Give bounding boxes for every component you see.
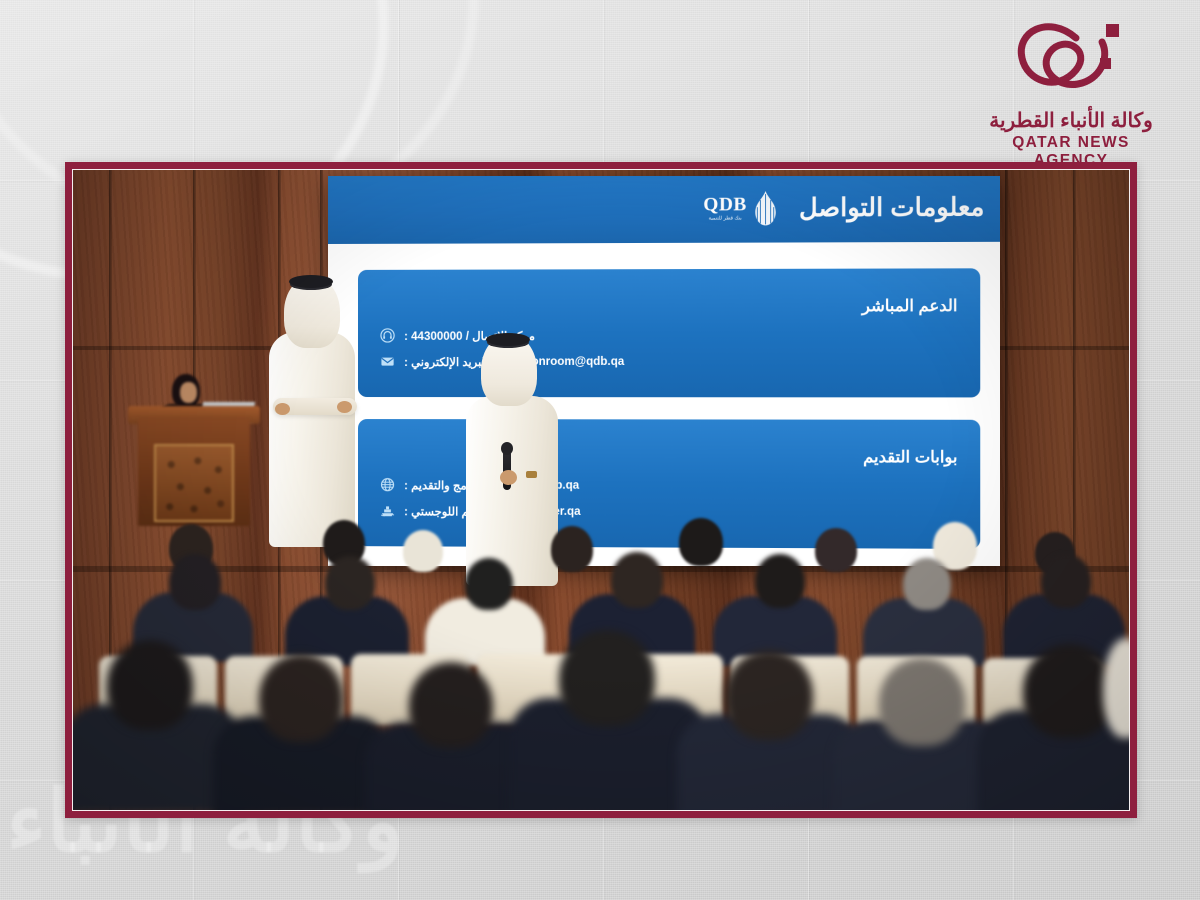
audience-head xyxy=(409,662,493,748)
qdb-wordmark: QDB بنك قطر للتنمية xyxy=(703,195,747,221)
audience-head xyxy=(879,658,965,746)
audience-head xyxy=(107,640,193,730)
envelope-icon xyxy=(380,354,395,369)
audience-head xyxy=(755,554,805,608)
hand xyxy=(275,403,290,415)
audience-head xyxy=(403,530,443,572)
qdb-flame-icon xyxy=(752,191,779,225)
hand xyxy=(500,470,517,485)
qna-name-arabic: وكالة الأنباء القطرية xyxy=(982,110,1160,132)
qna-logo: وكالة الأنباء القطرية QATAR NEWS AGENCY xyxy=(982,18,1160,170)
qdb-wordmark-ar: بنك قطر للتنمية xyxy=(709,216,742,221)
audience-head xyxy=(465,558,513,610)
headset-icon xyxy=(380,328,395,343)
audience-head xyxy=(559,630,655,726)
podium-speaker-face xyxy=(180,382,197,403)
audience-head xyxy=(1041,554,1091,608)
news-photo-frame: QDB بنك قطر للتنمية معلومات التواصل الدع… xyxy=(65,162,1137,818)
audience-head xyxy=(903,558,951,610)
news-photo: QDB بنك قطر للتنمية معلومات التواصل الدع… xyxy=(72,169,1130,811)
audience-head xyxy=(725,650,813,740)
audience-head xyxy=(679,518,723,566)
panel-heading: الدعم المباشر xyxy=(380,296,958,317)
slide-header: QDB بنك قطر للتنمية معلومات التواصل xyxy=(328,176,1000,244)
audience-head xyxy=(1023,644,1115,738)
audience-head xyxy=(611,552,663,608)
audience-head xyxy=(169,554,221,610)
qdb-logo: QDB بنك قطر للتنمية xyxy=(703,191,778,226)
qdb-wordmark-en: QDB xyxy=(703,195,747,214)
hand xyxy=(337,401,352,413)
face xyxy=(494,352,522,386)
audience xyxy=(73,490,1129,810)
microphone-head xyxy=(501,442,513,455)
qna-infinity-logo-icon xyxy=(1006,18,1136,104)
wristwatch xyxy=(526,471,537,478)
face xyxy=(305,292,333,326)
audience-head xyxy=(259,654,343,742)
audience-head xyxy=(551,526,593,572)
screenshot-canvas: وكالة الأنباء وكالة الأنباء القطرية QATA… xyxy=(0,0,1200,900)
slide-title: معلومات التواصل xyxy=(799,192,984,223)
audience-head xyxy=(325,556,375,610)
agal-headband xyxy=(289,275,333,288)
audience-head xyxy=(815,528,857,572)
agal-headband xyxy=(486,333,530,346)
